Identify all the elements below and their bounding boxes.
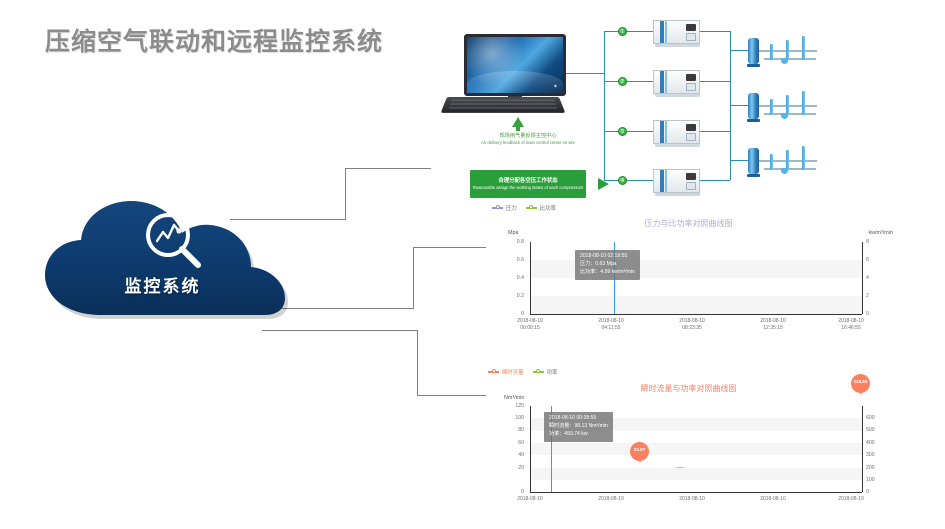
ytick-left-3: 0.2: [506, 293, 524, 299]
flow-xtick-0-date: 2018-08-10: [517, 496, 543, 502]
ytick-right-3: 2: [866, 293, 884, 299]
flow-ytick-left-5: 20: [506, 465, 524, 471]
bus-branch-2: [604, 81, 653, 82]
compressor-node-1[interactable]: 1: [618, 27, 627, 36]
flow-ytick-right-2: 400: [866, 440, 884, 446]
bus-branch-4: [604, 180, 653, 181]
air-tank-group-2[interactable]: [748, 91, 858, 125]
flow-xtick-0: 2018-08-10: [504, 496, 556, 503]
legend-item-power[interactable]: 功率: [533, 368, 558, 376]
flow-xtick-1-date: 2018-08-10: [598, 496, 624, 502]
compressor-unit-4[interactable]: [653, 169, 700, 197]
xtick-0-time: 00:00:15: [520, 325, 539, 331]
compressor-node-4[interactable]: 4: [618, 176, 627, 185]
xtick-2-date: 2018-08-10: [679, 318, 705, 324]
pressure-chart-panel: 压力 比功率 压力与比功率对照曲线图 Mpa kw/m³/min: [486, 202, 891, 332]
bus-branch-1b: [627, 31, 653, 32]
flow-ytick-left-4: 40: [506, 452, 524, 458]
xtick-0-date: 2018-08-10: [517, 318, 543, 324]
xtick-1: 2018-08-10 04:11:55: [585, 318, 637, 332]
ytick-right-0: 8: [866, 239, 884, 245]
xtick-1-date: 2018-08-10: [598, 318, 624, 324]
cloud-label: 监控系统: [35, 272, 290, 297]
flow-max-pin[interactable]: 118.55: [851, 374, 870, 393]
flow-xtick-2-date: 2018-08-10: [679, 496, 705, 502]
air-tank-group-3[interactable]: [748, 146, 858, 180]
flow-ytick-right-4: 200: [866, 465, 884, 471]
bus-monitor-link: [566, 73, 604, 74]
xtick-4-date: 2018-08-10: [838, 318, 864, 324]
flow-xtick-4: 2018-08-10: [825, 496, 877, 503]
connector-bottom: [262, 330, 492, 396]
monitor-caption: 现场用气量反馈主控中心 Air delivery feedback of mai…: [468, 133, 588, 145]
xtick-3: 2018-08-10 12:35:15: [747, 318, 799, 332]
air-tank-group-1[interactable]: [748, 36, 858, 70]
legend-label-flow: 瞬时流量: [502, 368, 524, 376]
flow-chart-legend[interactable]: 瞬时流量 功率: [488, 368, 557, 376]
feedback-arrow-icon: [512, 117, 524, 127]
legend-label-specific-power: 比功率: [540, 204, 556, 212]
page-title: 压缩空气联动和远程监控系统: [45, 22, 383, 58]
ytick-left-0: 0.8: [506, 239, 524, 245]
flow-xtick-4-date: 2018-08-10: [838, 496, 864, 502]
green-box-cn: 合理分配各空压工作状态: [470, 178, 586, 185]
flow-min-pin-value: 33.87: [630, 447, 649, 452]
flow-ytick-left-3: 60: [506, 440, 524, 446]
legend-item-flow[interactable]: 瞬时流量: [488, 368, 524, 376]
flow-xtick-2: 2018-08-10: [666, 496, 718, 503]
flow-ytick-right-3: 300: [866, 452, 884, 458]
xtick-4-time: 16:46:55: [841, 325, 860, 331]
compressor-node-2[interactable]: 2: [618, 77, 627, 86]
xtick-3-date: 2018-08-10: [760, 318, 786, 324]
flow-tooltip-row-flow: 瞬时流量：98.13 Nm³/min: [549, 423, 608, 431]
flow-max-pin-value: 118.55: [851, 379, 870, 384]
bus-left-trunk: [604, 31, 605, 181]
legend-item-specific-power[interactable]: 比功率: [526, 204, 556, 212]
xtick-0: 2018-08-10 00:00:15: [504, 318, 556, 332]
ytick-right-4: 0: [866, 311, 884, 317]
pressure-y-axis-unit: Mpa: [508, 230, 519, 236]
flow-ytick-right-6: 0: [866, 489, 884, 495]
pressure-chart-legend[interactable]: 压力 比功率: [492, 204, 556, 212]
green-callout-box: 合理分配各空压工作状态 Reasonable assign the workin…: [470, 170, 586, 198]
flow-y-axis-unit: Nm³/min: [504, 395, 524, 401]
flow-tooltip-timestamp: 2018-08-10 00:38:55: [549, 415, 608, 423]
flow-ytick-left-2: 80: [506, 427, 524, 433]
compressor-unit-3[interactable]: [653, 120, 700, 148]
flow-ytick-left-6: 0: [506, 489, 524, 495]
legend-label-pressure: 压力: [506, 204, 517, 212]
ytick-left-2: 0.4: [506, 275, 524, 281]
flow-chart-title: 瞬时流量与功率对照曲线图: [486, 383, 891, 394]
pressure-chart-title: 压力与比功率对照曲线图: [486, 218, 891, 229]
flow-chart-tooltip: 2018-08-10 00:38:55 瞬时流量：98.13 Nm³/min 功…: [544, 412, 613, 442]
magnifier-chart-icon: [143, 210, 205, 272]
system-topology-diagram: ◆ 现场用气量反馈主控中心 Air delivery feedback of m…: [432, 20, 932, 200]
xtick-4: 2018-08-10 16:46:55: [825, 318, 877, 332]
tooltip-row-pressure: 压力：0.63 Mpa: [580, 261, 635, 269]
tooltip-timestamp: 2018-08-10 02:19:55: [580, 253, 635, 261]
ytick-left-4: 0: [506, 311, 524, 317]
flow-chart-panel: 瞬时流量 功率 瞬时流量与功率对照曲线图 Nm³/min: [486, 366, 891, 529]
flow-ytick-left-1: 100: [506, 415, 524, 421]
legend-label-power: 功率: [547, 368, 558, 376]
flow-tooltip-row-power: 功率：493.74 kw: [549, 431, 608, 439]
flow-ytick-right-0: 600: [866, 415, 884, 421]
xtick-1-time: 04:11:55: [601, 325, 620, 331]
flow-xtick-1: 2018-08-10: [585, 496, 637, 503]
ytick-left-1: 0.6: [506, 257, 524, 263]
compressor-unit-2[interactable]: [653, 70, 700, 98]
flow-xtick-3: 2018-08-10: [747, 496, 799, 503]
xtick-2: 2018-08-10 08:23:35: [666, 318, 718, 332]
flow-ytick-right-1: 500: [866, 427, 884, 433]
green-box-en: Reasonable assign the working states of …: [470, 185, 586, 190]
slide-root: 压缩空气联动和远程监控系统: [0, 0, 945, 529]
keyboard: [441, 97, 566, 113]
ytick-right-1: 6: [866, 257, 884, 263]
cloud-monitoring-system[interactable]: 监控系统: [35, 192, 290, 327]
ytick-right-2: 4: [866, 275, 884, 281]
flow-ytick-left-0: 120: [506, 403, 524, 409]
monitor-logo: ◆: [554, 83, 557, 88]
monitor-screen: ◆: [464, 34, 566, 96]
compressor-unit-1[interactable]: [653, 20, 700, 48]
flow-min-pin[interactable]: 33.87: [630, 442, 649, 461]
monitor-caption-en: Air delivery feedback of main control ce…: [468, 140, 588, 145]
xtick-3-time: 12:35:15: [763, 325, 782, 331]
connector-middle: [272, 247, 487, 309]
tooltip-row-specific-power: 比功率：4.99 kw/m³/min: [580, 269, 635, 277]
flow-ytick-right-5: 100: [866, 477, 884, 483]
compressor-node-3[interactable]: 3: [618, 127, 627, 136]
legend-item-pressure[interactable]: 压力: [492, 204, 517, 212]
pressure-y2-axis-unit: kw/m³/min: [868, 230, 893, 236]
xtick-2-time: 08:23:35: [682, 325, 701, 331]
flow-xtick-3-date: 2018-08-10: [760, 496, 786, 502]
pressure-chart-tooltip: 2018-08-10 02:19:55 压力：0.63 Mpa 比功率：4.99…: [575, 250, 640, 280]
bus-branch-3: [604, 131, 653, 132]
